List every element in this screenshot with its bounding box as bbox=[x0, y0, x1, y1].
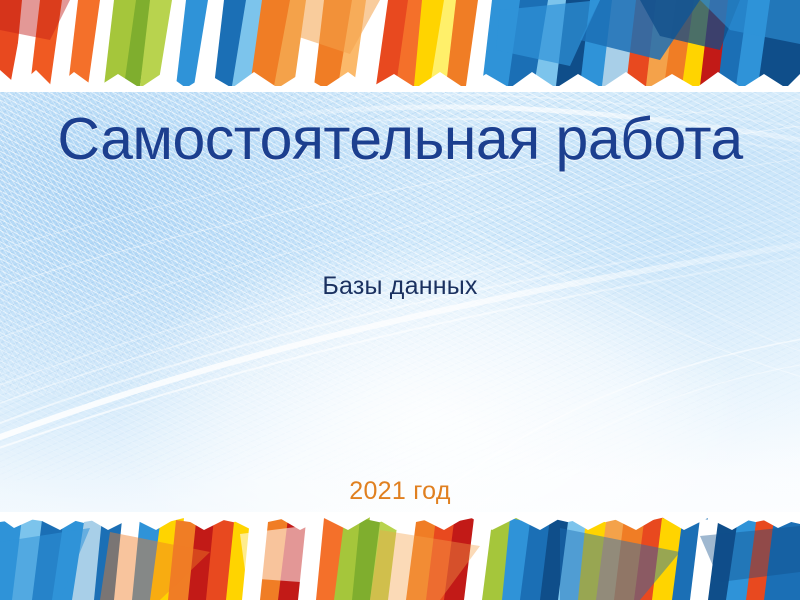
bottom-decor-shards bbox=[0, 512, 800, 600]
bottom-decor-band bbox=[0, 512, 800, 600]
slide-subtitle: Базы данных bbox=[0, 272, 800, 301]
presentation-slide: Самостоятельная работа Базы данных 2021 … bbox=[0, 0, 800, 600]
slide-title: Самостоятельная работа bbox=[0, 108, 800, 172]
top-decor-band bbox=[0, 0, 800, 92]
slide-year: 2021 год bbox=[0, 477, 800, 506]
top-decor-shards bbox=[0, 0, 800, 92]
